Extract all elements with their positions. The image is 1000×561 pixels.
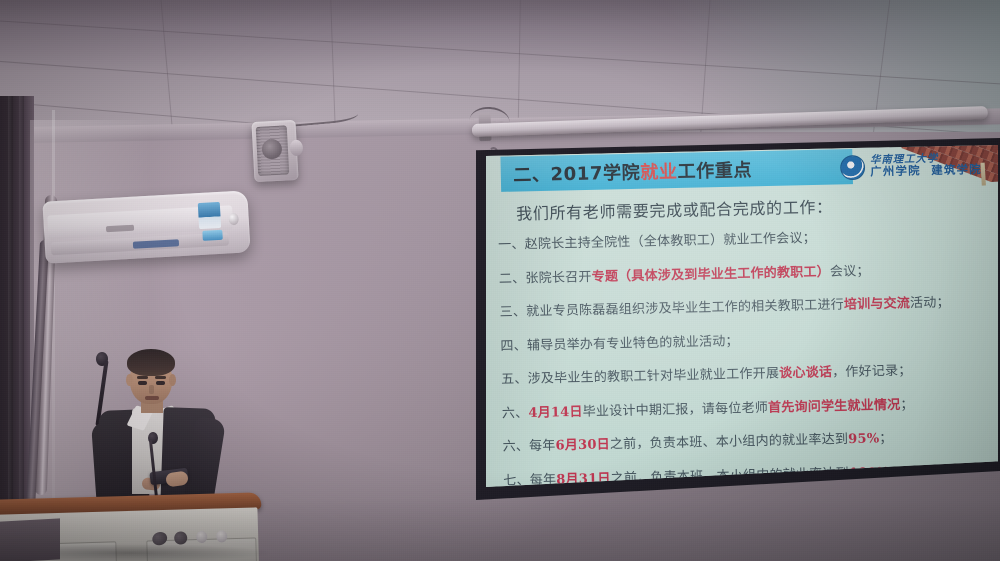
bullet-text: 一、赵院长主持全院性（全体教职工）就业工作会议； bbox=[498, 230, 816, 252]
university-seal-icon bbox=[840, 155, 865, 180]
bullet-highlight: 专题（具体涉及到毕业生工作的教职工） bbox=[591, 263, 830, 284]
wall-speaker bbox=[251, 120, 298, 182]
slide-bullet-list: 一、赵院长主持全院性（全体教职工）就业工作会议；二、张院长召开专题（具体涉及到毕… bbox=[498, 223, 998, 487]
bullet-text: 三、就业专员陈磊磊组织涉及毕业生工作的相关教职工进行 bbox=[499, 296, 844, 319]
presenter-hair bbox=[127, 349, 175, 376]
logo-college-names: 广州学院 建筑学院 bbox=[870, 164, 982, 178]
air-conditioner-unit bbox=[42, 190, 250, 263]
bullet-highlight: 6月30日 bbox=[555, 436, 610, 453]
slide-bullet: 四、辅导员举办有专业特色的就业活动； bbox=[500, 323, 995, 353]
bullet-text: ，作好记录； bbox=[832, 362, 912, 379]
floor-shadow bbox=[0, 498, 1000, 561]
bullet-text: 之前，负责本班、本小组内的就业率达到 bbox=[610, 431, 849, 452]
bullet-highlight: 培训与交流 bbox=[844, 295, 911, 312]
bullet-text: ； bbox=[879, 430, 893, 446]
bullet-text: 活动； bbox=[910, 294, 950, 310]
slide-title-suffix: 工作重点 bbox=[677, 160, 752, 182]
bullet-text: 五、涉及毕业生的教职工针对毕业就业工作开展 bbox=[501, 365, 779, 387]
bullet-highlight: 首先询问学生就业情况 bbox=[768, 396, 901, 414]
slide-bullet: 二、张院长召开专题（具体涉及到毕业生工作的教职工）会议； bbox=[499, 256, 994, 286]
slide-bullet: 六、每年6月30日之前，负责本班、本小组内的就业率达到95%； bbox=[502, 424, 997, 454]
bullet-text: 六、 bbox=[502, 404, 529, 420]
bullet-highlight: 谈心谈话 bbox=[779, 364, 832, 381]
slide-title-highlight: 就业 bbox=[640, 162, 678, 184]
slide-title: 二、2017学院就业工作重点 bbox=[501, 156, 753, 187]
university-logo-block: 华南理工大学 广州学院 建筑学院 bbox=[840, 145, 996, 189]
bullet-highlight: 4月14日 bbox=[528, 403, 583, 420]
bullet-text: 会议； bbox=[830, 262, 870, 278]
presenter bbox=[86, 352, 254, 514]
bullet-text: 二、张院长召开 bbox=[499, 268, 592, 286]
bullet-text: ； bbox=[900, 396, 914, 412]
presenter-eye-left bbox=[138, 381, 147, 385]
ac-energy-label bbox=[198, 202, 221, 229]
presenter-mouth bbox=[145, 396, 159, 400]
projection-screen[interactable]: 二、2017学院就业工作重点 华南理工大学 bbox=[486, 145, 998, 487]
slide-bullet: 一、赵院长主持全院性（全体教职工）就业工作会议； bbox=[498, 223, 993, 253]
slide-title-bar: 二、2017学院就业工作重点 bbox=[500, 149, 853, 192]
slide-bullet: 三、就业专员陈磊磊组织涉及毕业生工作的相关教职工进行培训与交流活动； bbox=[499, 290, 994, 320]
bullet-text: 毕业设计中期汇报，请每位老师 bbox=[582, 399, 768, 419]
bullet-text: 四、辅导员举办有专业特色的就业活动； bbox=[500, 332, 739, 353]
bullet-text: 六、每年 bbox=[502, 437, 555, 454]
slide-bullet: 五、涉及毕业生的教职工针对毕业就业工作开展谈心谈话，作好记录； bbox=[501, 357, 996, 387]
bullet-highlight: 95% bbox=[848, 430, 879, 446]
slide-bullet: 六、4月14日毕业设计中期汇报，请每位老师首先询问学生就业情况； bbox=[502, 391, 997, 421]
ac-side-knob bbox=[228, 213, 239, 226]
lecture-hall-photo: 二、2017学院就业工作重点 华南理工大学 bbox=[0, 0, 1000, 561]
slide-lead-text: 我们所有老师需要完成或配合完成的工作： bbox=[516, 195, 833, 225]
slide-title-prefix: 二、2017学院 bbox=[513, 162, 640, 185]
presenter-eye-right bbox=[156, 381, 165, 385]
presentation-slide: 二、2017学院就业工作重点 华南理工大学 bbox=[486, 145, 998, 487]
